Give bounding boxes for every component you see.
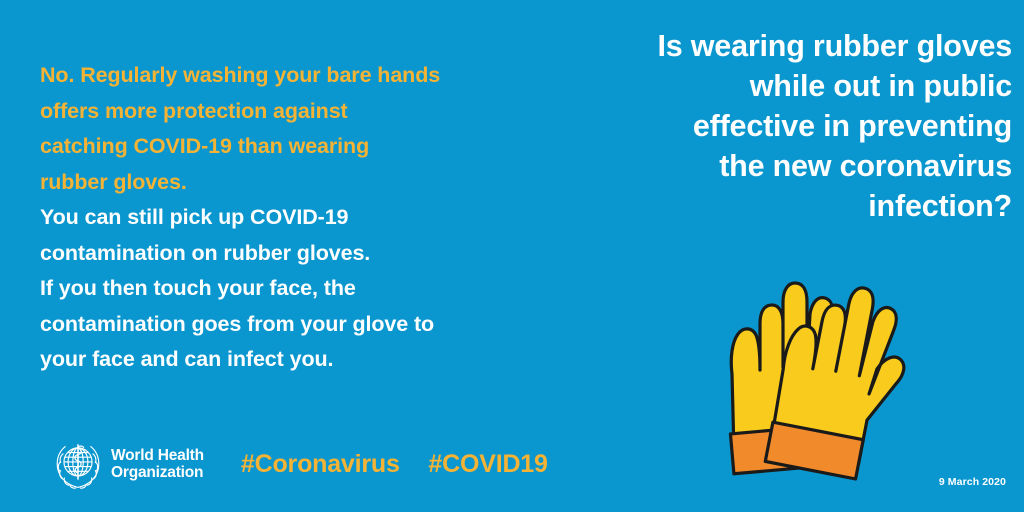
footer: World Health Organization #Coronavirus #… [52,438,548,490]
headline-line-3: effective in preventing [542,106,1012,146]
headline-line-4: the new coronavirus [542,146,1012,186]
answer-lead-line-1: No. Regularly washing your bare hands [40,58,560,94]
answer-body1-line-1: You can still pick up COVID-19 [40,200,560,236]
answer-body-paragraph-1: You can still pick up COVID-19 contamina… [40,200,560,271]
headline-line-2: while out in public [542,66,1012,106]
answer-lead-line-3: catching COVID-19 than wearing [40,129,560,165]
who-logo: World Health Organization [52,438,204,490]
hashtags: #Coronavirus #COVID19 [241,450,548,479]
who-wordmark-line-1: World Health [111,447,204,465]
answer-lead-line-4: rubber gloves. [40,165,560,201]
answer-lead-paragraph: No. Regularly washing your bare hands of… [40,58,560,200]
headline-line-5: infection? [542,186,1012,226]
answer-body1-line-2: contamination on rubber gloves. [40,236,560,272]
who-emblem-icon [52,438,104,490]
headline-question: Is wearing rubber gloves while out in pu… [542,26,1012,226]
who-covid-myth-buster-poster: Is wearing rubber gloves while out in pu… [0,0,1024,512]
who-wordmark: World Health Organization [111,447,204,482]
hashtag-covid19: #COVID19 [428,450,547,478]
date-stamp: 9 March 2020 [939,476,1006,488]
who-wordmark-line-2: Organization [111,464,204,482]
answer-body-paragraph-2: If you then touch your face, the contami… [40,271,560,378]
rubber-gloves-illustration [716,262,946,487]
answer-body2-line-3: your face and can infect you. [40,342,560,378]
headline-line-1: Is wearing rubber gloves [542,26,1012,66]
answer-lead-line-2: offers more protection against [40,94,560,130]
answer-body2-line-1: If you then touch your face, the [40,271,560,307]
answer-block: No. Regularly washing your bare hands of… [40,58,560,378]
answer-body2-line-2: contamination goes from your glove to [40,307,560,343]
hashtag-coronavirus: #Coronavirus [241,450,400,478]
